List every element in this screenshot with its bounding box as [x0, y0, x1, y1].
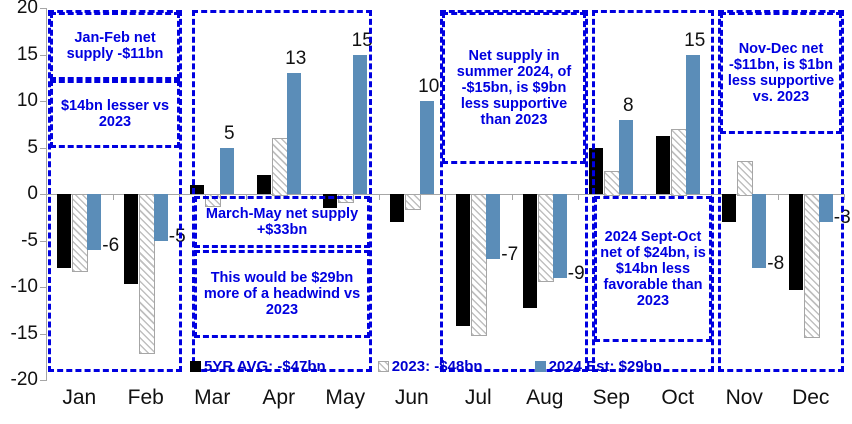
y-axis-label: 0 — [0, 184, 38, 203]
annotation-summer-detail: Net supply in summer 2024, of -$15bn, is… — [442, 12, 586, 164]
annotation-nov-dec-detail-text: Nov-Dec net -$11bn, is $1bn less support… — [726, 41, 836, 105]
y-axis-tick — [40, 241, 47, 242]
y-axis-label: 20 — [0, 0, 38, 17]
x-axis-label: Dec — [778, 387, 845, 409]
annotation-sep-oct-detail: 2024 Sept-Oct net of $24bn, is $14bn les… — [594, 196, 712, 342]
chart-legend: 5YR AVG: -$47bn2023: -$48bn2024 Est: $29… — [0, 358, 852, 375]
annotation-jan-feb-detail: $14bn lesser vs 2023 — [50, 80, 180, 148]
x-axis-tick — [844, 194, 845, 200]
legend-item[interactable]: 5YR AVG: -$47bn — [190, 358, 326, 375]
annotation-jan-feb-headline-text: Jan-Feb net supply -$11bn — [56, 30, 174, 62]
y-axis-tick — [40, 101, 47, 102]
x-axis-label: Oct — [645, 387, 712, 409]
y-axis-tick — [40, 55, 47, 56]
annotation-mar-may-headline: March-May net supply +$33bn — [194, 196, 370, 248]
x-axis-label: Jan — [46, 387, 113, 409]
legend-item[interactable]: 2024 Est: $29bn — [535, 358, 662, 375]
legend-item-label: 5YR AVG: -$47bn — [204, 358, 326, 375]
x-axis-label: Jun — [379, 387, 446, 409]
x-axis-label: Jul — [445, 387, 512, 409]
bar-5yr-avg — [390, 194, 404, 222]
black-square-icon — [190, 361, 201, 372]
x-axis-label: Sep — [578, 387, 645, 409]
blue-square-icon — [535, 361, 546, 372]
x-axis-label: Apr — [246, 387, 313, 409]
annotation-mar-may-detail-text: This would be $29bn more of a headwind v… — [200, 270, 364, 318]
data-label: 10 — [416, 77, 442, 96]
y-axis-tick — [40, 334, 47, 335]
x-axis-label: Nov — [711, 387, 778, 409]
annotation-mar-may-detail: This would be $29bn more of a headwind v… — [194, 250, 370, 338]
y-axis-tick — [40, 380, 47, 381]
y-axis-label: 10 — [0, 91, 38, 110]
annotation-jan-feb-headline: Jan-Feb net supply -$11bn — [50, 12, 180, 80]
x-axis-tick — [379, 194, 380, 200]
legend-item[interactable]: 2023: -$48bn — [378, 358, 483, 375]
y-axis-label: -15 — [0, 324, 38, 343]
y-axis-tick — [40, 194, 47, 195]
net-supply-bar-chart: 20151050-5-10-15-20 -6-55131510-7-9815-8… — [0, 0, 852, 424]
bar-2024-est — [420, 101, 434, 194]
annotation-nov-dec-detail: Nov-Dec net -$11bn, is $1bn less support… — [720, 12, 842, 134]
annotation-mar-may-headline-text: March-May net supply +$33bn — [200, 206, 364, 238]
legend-item-label: 2024 Est: $29bn — [549, 358, 662, 375]
legend-item-label: 2023: -$48bn — [392, 358, 483, 375]
y-axis-label: 15 — [0, 45, 38, 64]
y-axis-label: -10 — [0, 277, 38, 296]
x-axis-label: Feb — [113, 387, 180, 409]
bar-2023 — [405, 194, 421, 210]
x-axis-label: May — [312, 387, 379, 409]
hatched-square-icon — [378, 361, 389, 372]
y-axis-tick — [40, 287, 47, 288]
x-axis-label: Mar — [179, 387, 246, 409]
y-axis-label: 5 — [0, 138, 38, 157]
annotation-sep-oct-detail-text: 2024 Sept-Oct net of $24bn, is $14bn les… — [600, 229, 706, 309]
x-axis-label: Aug — [512, 387, 579, 409]
annotation-summer-detail-text: Net supply in summer 2024, of -$15bn, is… — [448, 48, 580, 128]
y-axis-tick — [40, 148, 47, 149]
y-axis-tick — [40, 8, 47, 9]
y-axis-label: -5 — [0, 231, 38, 250]
annotation-jan-feb-detail-text: $14bn lesser vs 2023 — [56, 98, 174, 130]
